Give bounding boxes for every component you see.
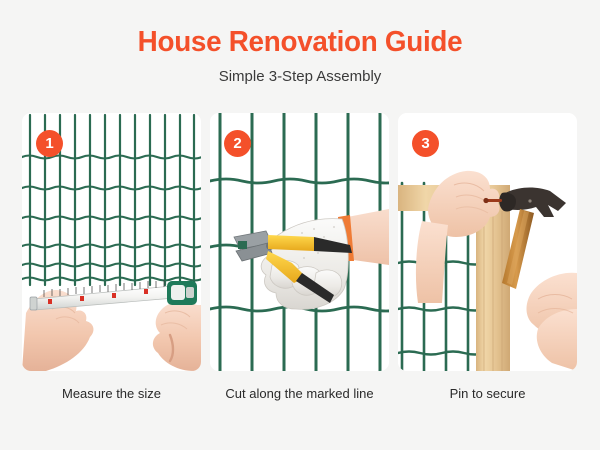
page-subtitle: Simple 3-Step Assembly <box>0 59 600 85</box>
right-hand <box>527 273 577 371</box>
step-card-2[interactable]: 2 Cut along the marked line <box>210 113 389 401</box>
poster-root: House Renovation Guide Simple 3-Step Ass… <box>0 0 600 450</box>
page-title: House Renovation Guide <box>12 0 588 59</box>
step-caption-2: Cut along the marked line <box>210 386 389 401</box>
step-caption-1: Measure the size <box>22 386 201 401</box>
step-3-image: 3 <box>398 113 577 371</box>
step-card-1[interactable]: 1 Measure the size <box>22 113 201 401</box>
step-caption-3: Pin to secure <box>398 386 577 401</box>
step-card-3[interactable]: 3 Pin to secure <box>398 113 577 401</box>
tape-housing <box>167 281 197 305</box>
steps-row: 1 Measure the size <box>22 113 578 401</box>
step-2-image: 2 <box>210 113 389 371</box>
step-badge-1: 1 <box>36 130 63 157</box>
step-badge-3: 3 <box>412 130 439 157</box>
step-badge-2: 2 <box>224 130 251 157</box>
header: House Renovation Guide Simple 3-Step Ass… <box>0 0 600 85</box>
right-hand <box>153 302 201 371</box>
step-1-image: 1 <box>22 113 201 371</box>
